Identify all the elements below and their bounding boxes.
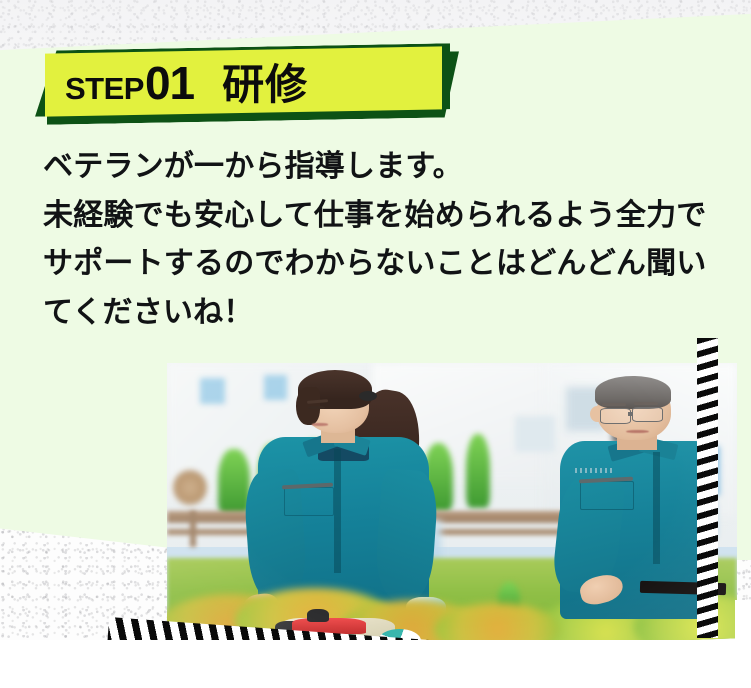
hazard-stripe-right (697, 338, 718, 638)
step-banner: STEP 01 研修 (35, 47, 455, 119)
training-photo-image (167, 363, 737, 659)
banner-text-group: STEP 01 研修 (45, 60, 308, 106)
photo-vignette (167, 363, 737, 659)
body-copy: ベテランが一から指導します。 未経験でも安心して仕事を始められるよう全力で サポ… (43, 143, 733, 337)
body-line-2: 未経験でも安心して仕事を始められるよう全力で (43, 192, 733, 241)
training-photo (167, 363, 737, 659)
body-line-1: ベテランが一から指導します。 (43, 143, 733, 192)
step-card-stage: STEP 01 研修 ベテランが一から指導します。 未経験でも安心して仕事を始め… (0, 0, 751, 688)
banner-step-title: 研修 (222, 64, 308, 106)
banner-step-number: 01 (145, 60, 194, 106)
body-line-3: サポートするのでわからないことはどんどん聞い (43, 240, 733, 289)
banner-step-word: STEP (65, 73, 144, 104)
bottom-white-margin (0, 640, 751, 688)
body-line-4: てくださいね！ (43, 289, 733, 338)
banner-yellow-plate: STEP 01 研修 (45, 46, 442, 116)
